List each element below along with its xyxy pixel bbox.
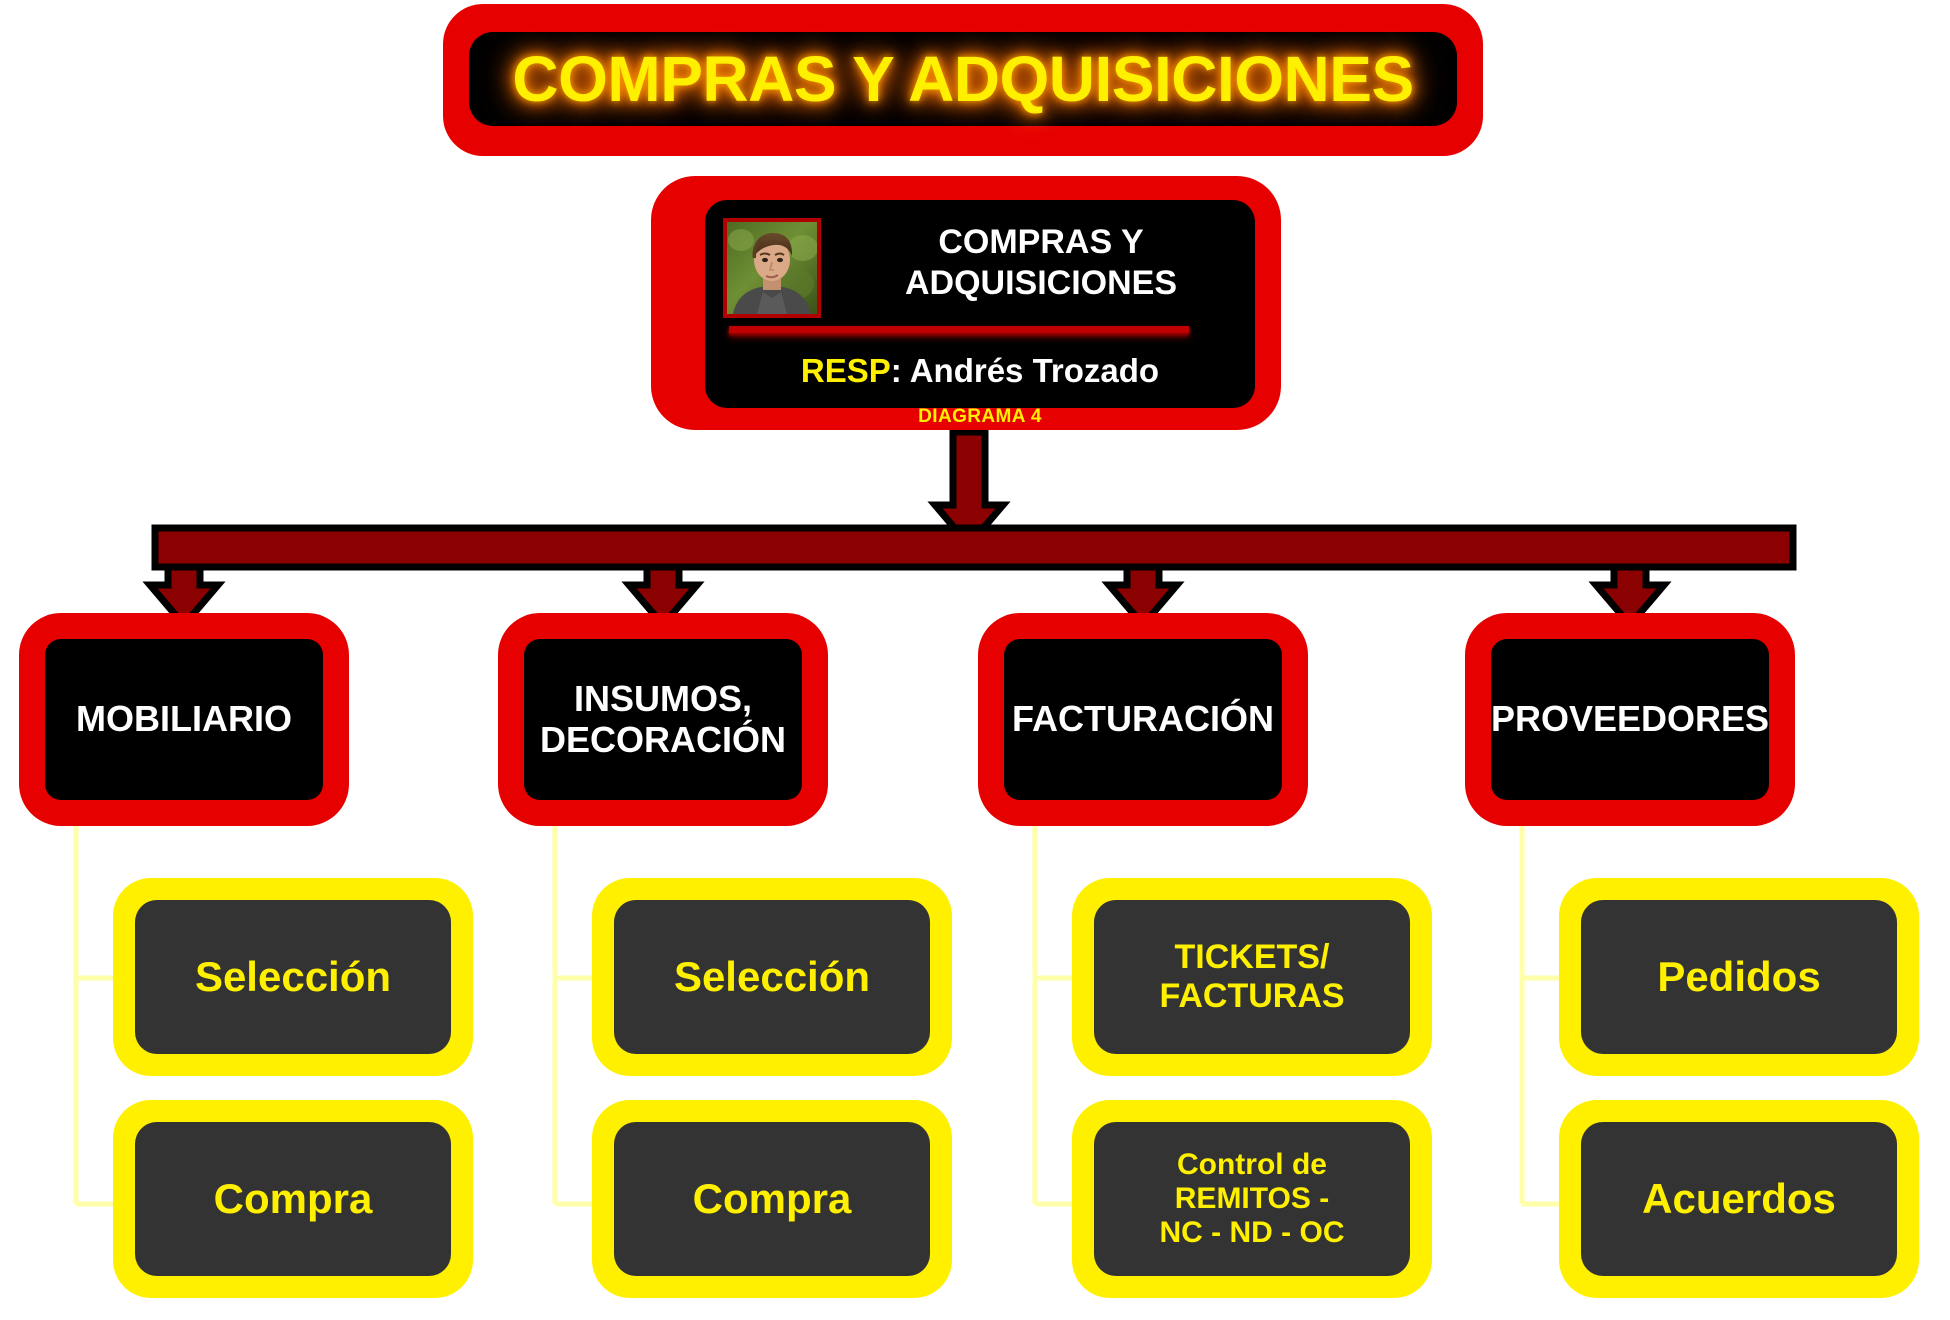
page-title: COMPRAS Y ADQUISICIONES bbox=[512, 42, 1413, 116]
leaf-label: Acuerdos bbox=[1636, 1175, 1842, 1223]
leaf-label: Control de REMITOS - NC - ND - OC bbox=[1154, 1148, 1351, 1251]
root-title-line-2: ADQUISICIONES bbox=[835, 263, 1247, 304]
leaf-label-line-1: TICKETS/ bbox=[1159, 938, 1344, 977]
leaf-node-inner: Compra bbox=[614, 1122, 930, 1276]
leaf-label: Selección bbox=[189, 953, 397, 1001]
portrait-photo-icon bbox=[727, 222, 817, 314]
leaf-label-line-1: Selección bbox=[195, 953, 391, 1001]
leaf-node-pedidos[interactable]: Pedidos bbox=[1559, 878, 1919, 1076]
leaf-node-inner: Selección bbox=[614, 900, 930, 1054]
level2-node-insumos-decoracion[interactable]: INSUMOS, DECORACIÓN bbox=[498, 613, 828, 826]
avatar bbox=[723, 218, 821, 318]
leaf-label-line-1: Compra bbox=[214, 1175, 373, 1223]
level2-label-line-2: DECORACIÓN bbox=[540, 720, 786, 760]
root-title-line-1: COMPRAS Y bbox=[835, 222, 1247, 263]
level2-node-inner: PROVEEDORES bbox=[1491, 639, 1769, 800]
leaf-label-line-2: REMITOS - bbox=[1160, 1182, 1345, 1216]
leaf-label: TICKETS/ FACTURAS bbox=[1153, 938, 1350, 1016]
level2-label: INSUMOS, DECORACIÓN bbox=[536, 679, 790, 760]
responsible-name: Andrés Trozado bbox=[910, 352, 1159, 389]
diagram-title-banner-inner: COMPRAS Y ADQUISICIONES bbox=[469, 32, 1457, 126]
diagram-number-label: DIAGRAMA 4 bbox=[705, 406, 1255, 428]
leaf-node-seleccion-insumos[interactable]: Selección bbox=[592, 878, 952, 1076]
leaf-node-inner: Selección bbox=[135, 900, 451, 1054]
leaf-label-line-1: Acuerdos bbox=[1642, 1175, 1836, 1223]
level2-label: FACTURACIÓN bbox=[1008, 699, 1278, 739]
level2-node-proveedores[interactable]: PROVEEDORES bbox=[1465, 613, 1795, 826]
diagram-title-banner: COMPRAS Y ADQUISICIONES bbox=[443, 4, 1483, 156]
level2-node-mobiliario[interactable]: MOBILIARIO bbox=[19, 613, 349, 826]
leaf-label-line-2: FACTURAS bbox=[1159, 977, 1344, 1016]
leaf-node-inner: Acuerdos bbox=[1581, 1122, 1897, 1276]
leaf-label-line-1: Compra bbox=[693, 1175, 852, 1223]
level2-label-line-1: MOBILIARIO bbox=[76, 699, 292, 739]
level2-label-line-1: INSUMOS, bbox=[540, 679, 786, 719]
leaf-label-line-1: Selección bbox=[674, 953, 870, 1001]
leaf-node-seleccion-mobiliario[interactable]: Selección bbox=[113, 878, 473, 1076]
leaf-node-inner: Pedidos bbox=[1581, 900, 1897, 1054]
level2-node-inner: INSUMOS, DECORACIÓN bbox=[524, 639, 802, 800]
level2-label: PROVEEDORES bbox=[1487, 699, 1773, 739]
root-responsible: RESP: Andrés Trozado bbox=[705, 352, 1255, 390]
root-node[interactable]: COMPRAS Y ADQUISICIONES RESP: Andrés Tro… bbox=[651, 176, 1281, 430]
level2-node-inner: FACTURACIÓN bbox=[1004, 639, 1282, 800]
leaf-node-inner: Compra bbox=[135, 1122, 451, 1276]
leaf-node-compra-mobiliario[interactable]: Compra bbox=[113, 1100, 473, 1298]
level2-label: MOBILIARIO bbox=[72, 699, 296, 739]
level2-node-facturacion[interactable]: FACTURACIÓN bbox=[978, 613, 1308, 826]
responsible-separator: : bbox=[891, 352, 910, 389]
leaf-label-line-1: Control de bbox=[1160, 1148, 1345, 1182]
leaf-label: Pedidos bbox=[1651, 953, 1826, 1001]
leaf-node-inner: Control de REMITOS - NC - ND - OC bbox=[1094, 1122, 1410, 1276]
level2-label-line-1: FACTURACIÓN bbox=[1012, 699, 1274, 739]
root-node-title: COMPRAS Y ADQUISICIONES bbox=[835, 222, 1247, 305]
root-divider bbox=[729, 326, 1189, 333]
leaf-label-line-1: Pedidos bbox=[1657, 953, 1820, 1001]
leaf-node-inner: TICKETS/ FACTURAS bbox=[1094, 900, 1410, 1054]
level2-label-line-1: PROVEEDORES bbox=[1491, 699, 1769, 739]
root-node-inner: COMPRAS Y ADQUISICIONES RESP: Andrés Tro… bbox=[705, 200, 1255, 408]
leaf-node-control-remitos[interactable]: Control de REMITOS - NC - ND - OC bbox=[1072, 1100, 1432, 1298]
org-chart-canvas: COMPRAS Y ADQUISICIONES bbox=[0, 0, 1950, 1320]
leaf-label-line-3: NC - ND - OC bbox=[1160, 1216, 1345, 1250]
leaf-label: Compra bbox=[208, 1175, 379, 1223]
leaf-node-tickets-facturas[interactable]: TICKETS/ FACTURAS bbox=[1072, 878, 1432, 1076]
responsible-label: RESP bbox=[801, 352, 891, 389]
leaf-label: Selección bbox=[668, 953, 876, 1001]
leaf-node-acuerdos[interactable]: Acuerdos bbox=[1559, 1100, 1919, 1298]
level2-node-inner: MOBILIARIO bbox=[45, 639, 323, 800]
leaf-label: Compra bbox=[687, 1175, 858, 1223]
leaf-node-compra-insumos[interactable]: Compra bbox=[592, 1100, 952, 1298]
